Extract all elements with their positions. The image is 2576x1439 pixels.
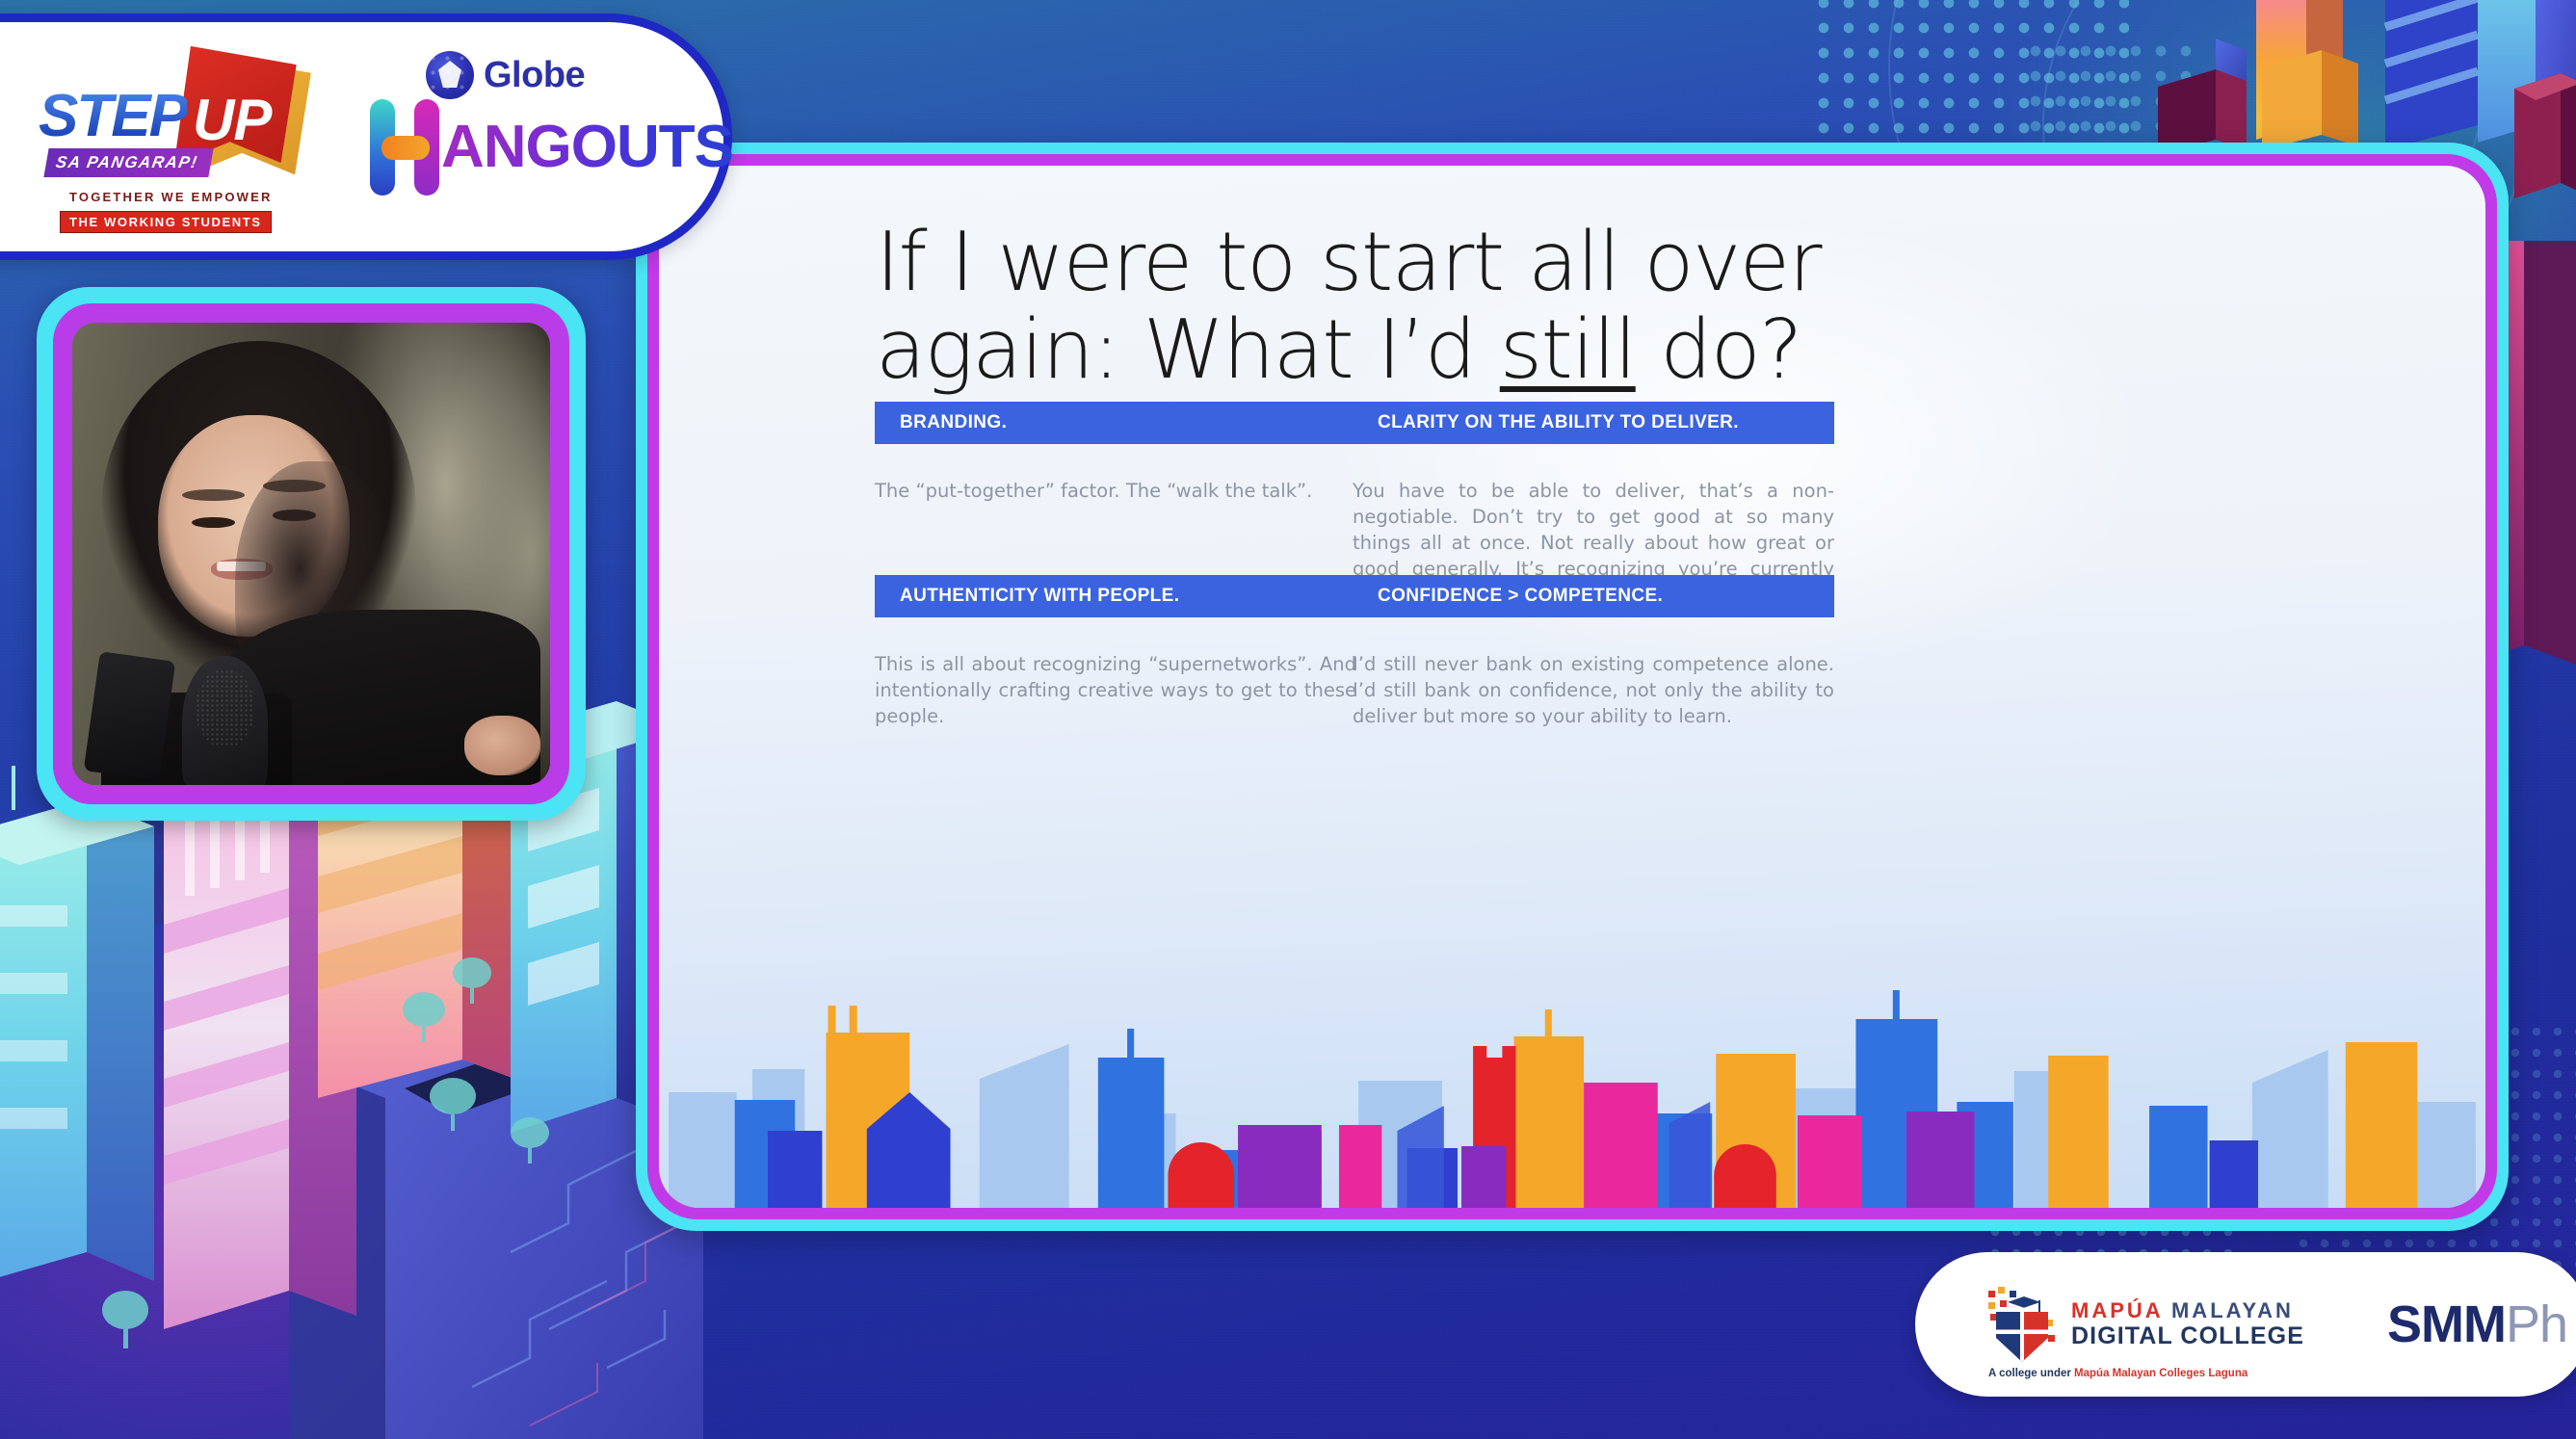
globe-sphere-icon bbox=[426, 51, 474, 99]
stepup-word-up: UP bbox=[193, 87, 271, 153]
block-heading: CLARITY ON THE ABILITY TO DELIVER. bbox=[1353, 402, 1834, 444]
content-block-confidence: CONFIDENCE > COMPETENCE. I’d still never… bbox=[1353, 575, 1834, 730]
globe-brand-label: Globe bbox=[484, 55, 585, 96]
speaker-video-feed bbox=[72, 323, 550, 785]
slide-title: If I were to start all over again: What … bbox=[876, 220, 2301, 395]
smmph-logo: SMMPh bbox=[2387, 1295, 2567, 1354]
speaker-brow-left bbox=[182, 489, 244, 501]
stepup-tagline-2: THE WORKING STUDENTS bbox=[60, 211, 272, 233]
slide-inner-border: If I were to start all over again: What … bbox=[647, 154, 2497, 1219]
globe-hangouts-logo: Globe ANGOUTS bbox=[370, 45, 688, 228]
globe-brand-row: Globe bbox=[426, 51, 585, 99]
hangouts-wordmark: ANGOUTS bbox=[370, 99, 733, 196]
smmph-bold: SMM bbox=[2387, 1295, 2506, 1353]
stepup-logo: STEP UP SA PANGARAP! TOGETHER WE EMPOWER… bbox=[29, 40, 308, 233]
speaker-video-tile[interactable] bbox=[37, 287, 586, 821]
slide-title-line-2-pre: again: What I’d bbox=[876, 302, 1500, 398]
mmdc-malayan: MALAYAN bbox=[2171, 1298, 2294, 1322]
block-heading: BRANDING. bbox=[875, 402, 1356, 444]
mmdc-line-2: DIGITAL COLLEGE bbox=[2071, 1322, 2304, 1349]
mmdc-line-1: MAPÚA MALAYAN bbox=[2071, 1299, 2304, 1323]
slide-title-line-2-post: do? bbox=[1636, 302, 1801, 398]
hangouts-word: ANGOUTS bbox=[441, 118, 733, 177]
block-body: The “put-together” factor. The “walk the… bbox=[875, 479, 1356, 505]
speaker-eye-left bbox=[192, 517, 235, 529]
hangouts-h-monogram-icon bbox=[370, 99, 439, 196]
slide-title-line-1: If I were to start all over bbox=[876, 215, 1821, 310]
mmdc-logo: MAPÚA MALAYAN DIGITAL COLLEGE A college … bbox=[1988, 1287, 2304, 1362]
mmdc-shield-icon bbox=[1988, 1287, 2056, 1362]
mmdc-wordmark: MAPÚA MALAYAN DIGITAL COLLEGE bbox=[2071, 1299, 2304, 1350]
mmdc-subtitle: A college under Mapúa Malayan Colleges L… bbox=[1988, 1368, 2247, 1379]
event-branding-header: STEP UP SA PANGARAP! TOGETHER WE EMPOWER… bbox=[0, 13, 732, 260]
block-body: I’d still never bank on existing compete… bbox=[1353, 652, 1834, 730]
mmdc-subtitle-prefix: A college under bbox=[1988, 1368, 2074, 1379]
speaker-hand bbox=[464, 716, 540, 775]
microphone-icon bbox=[182, 656, 268, 785]
video-tile-inner-border bbox=[53, 303, 569, 804]
partner-logos-footer: MAPÚA MALAYAN DIGITAL COLLEGE A college … bbox=[1915, 1252, 2576, 1397]
presentation-slide-frame: If I were to start all over again: What … bbox=[636, 143, 2509, 1231]
stepup-word-step: STEP bbox=[39, 87, 187, 146]
block-heading: AUTHENTICITY WITH PEOPLE. bbox=[875, 575, 1356, 617]
slide-title-emphasis: still bbox=[1500, 302, 1636, 398]
stepup-tagline-1: TOGETHER WE EMPOWER bbox=[69, 190, 273, 204]
presentation-slide: If I were to start all over again: What … bbox=[659, 166, 2485, 1208]
slide-skyline-illustration bbox=[659, 986, 2485, 1208]
mmdc-subtitle-highlight: Mapúa Malayan Colleges Laguna bbox=[2074, 1368, 2247, 1379]
block-body: This is all about recognizing “supernetw… bbox=[875, 652, 1356, 730]
content-block-authenticity: AUTHENTICITY WITH PEOPLE. This is all ab… bbox=[875, 575, 1356, 730]
content-block-branding: BRANDING. The “put-together” factor. The… bbox=[875, 402, 1356, 505]
block-heading: CONFIDENCE > COMPETENCE. bbox=[1353, 575, 1834, 617]
smmph-light: Ph bbox=[2506, 1295, 2567, 1353]
stepup-sub-sa-pangarap: SA PANGARAP! bbox=[43, 148, 214, 177]
mmdc-mapua: MAPÚA bbox=[2071, 1298, 2163, 1322]
